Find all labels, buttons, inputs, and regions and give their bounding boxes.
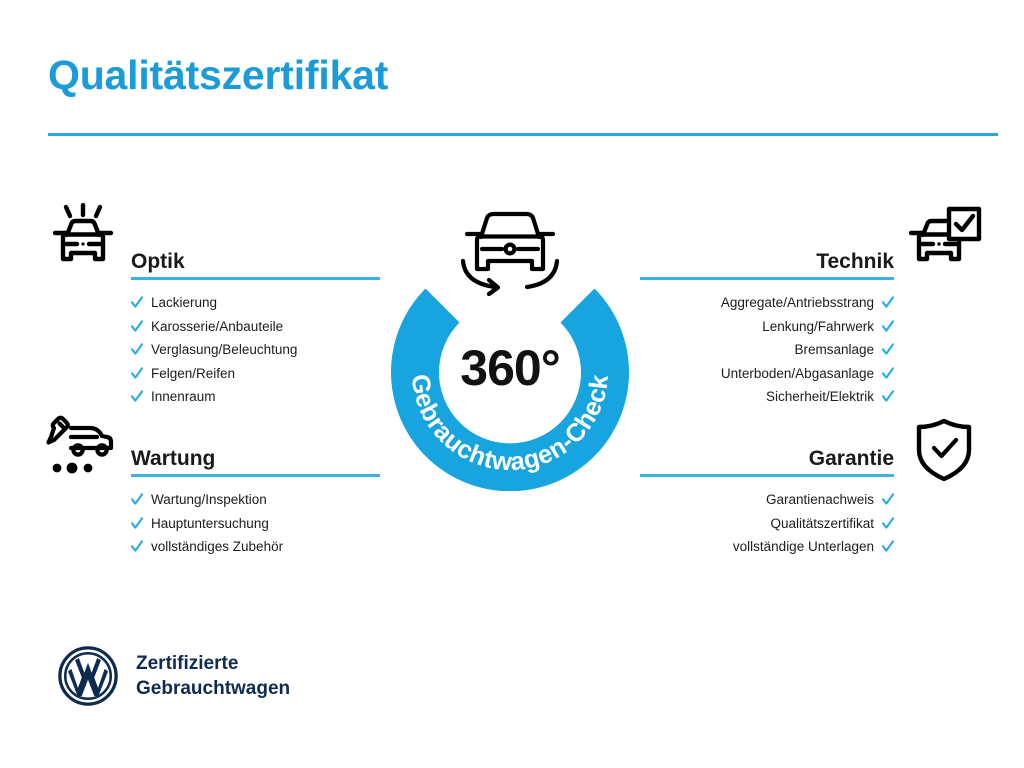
vw-text-line2: Gebrauchtwagen xyxy=(136,678,290,699)
list-item-label: Bremsanlage xyxy=(794,338,874,362)
list-item-label: Lackierung xyxy=(151,291,217,315)
list-item: Felgen/Reifen xyxy=(131,362,380,386)
list-item: Lackierung xyxy=(131,291,380,315)
list-item: Karosserie/Anbauteile xyxy=(131,315,380,339)
badge-number: 360° xyxy=(376,339,644,397)
list-item: Aggregate/Antriebsstrang xyxy=(640,291,894,315)
list-item-label: Qualitätszertifikat xyxy=(770,512,874,536)
section-technik-items: Aggregate/Antriebsstrang Lenkung/Fahrwer… xyxy=(640,291,894,409)
check-icon xyxy=(882,540,894,553)
list-item: Sicherheit/Elektrik xyxy=(640,385,894,409)
list-item-label: vollständiges Zubehör xyxy=(151,535,283,559)
list-item: vollständiges Zubehör xyxy=(131,535,380,559)
check-icon xyxy=(131,320,143,333)
vw-certified-text: Zertifizierte Gebrauchtwagen xyxy=(136,651,290,701)
section-optik-divider xyxy=(131,277,380,280)
car-service-pen-icon xyxy=(45,415,117,479)
check-icon xyxy=(131,343,143,356)
shield-check-icon xyxy=(913,417,975,483)
list-item-label: Sicherheit/Elektrik xyxy=(766,385,874,409)
list-item: vollständige Unterlagen xyxy=(640,535,894,559)
list-item-label: Wartung/Inspektion xyxy=(151,488,267,512)
check-icon xyxy=(882,296,894,309)
vw-logo xyxy=(57,645,119,707)
list-item-label: Aggregate/Antriebsstrang xyxy=(721,291,874,315)
car-rotate-icon xyxy=(455,199,565,299)
list-item: Innenraum xyxy=(131,385,380,409)
check-icon xyxy=(131,367,143,380)
check-icon xyxy=(131,540,143,553)
section-technik-divider xyxy=(640,277,894,280)
section-technik-head: Technik xyxy=(640,240,894,280)
check-icon xyxy=(882,493,894,506)
list-item: Lenkung/Fahrwerk xyxy=(640,315,894,339)
car-checkbox-icon xyxy=(907,203,985,275)
list-item-label: Garantienachweis xyxy=(766,488,874,512)
vw-text-line1: Zertifizierte xyxy=(136,653,238,674)
list-item-label: Innenraum xyxy=(151,385,216,409)
title-divider xyxy=(48,133,998,136)
list-item-label: Hauptuntersuchung xyxy=(151,512,269,536)
section-optik-head: Optik xyxy=(131,240,380,280)
list-item-label: Unterboden/Abgasanlage xyxy=(721,362,874,386)
section-garantie-title: Garantie xyxy=(809,447,894,471)
car-front-shine-icon xyxy=(47,203,119,275)
vw-certified-footer: Zertifizierte Gebrauchtwagen xyxy=(57,645,290,707)
section-wartung-head: Wartung xyxy=(131,437,380,477)
list-item-label: vollständige Unterlagen xyxy=(733,535,874,559)
list-item: Verglasung/Beleuchtung xyxy=(131,338,380,362)
section-wartung: Wartung Wartung/Inspektion Hauptuntersuc… xyxy=(131,437,380,559)
page-title: Qualitätszertifikat xyxy=(48,53,388,98)
section-wartung-items: Wartung/Inspektion Hauptuntersuchung vol… xyxy=(131,488,380,559)
list-item: Wartung/Inspektion xyxy=(131,488,380,512)
section-optik: Optik Lackierung Karosserie/Anbauteile V… xyxy=(131,240,380,409)
section-technik: Technik Aggregate/Antriebsstrang Lenkung… xyxy=(640,240,894,409)
section-garantie: Garantie Garantienachweis Qualitätszerti… xyxy=(640,437,894,559)
certificate-page: Qualitätszertifikat Optik xyxy=(0,0,1024,768)
section-wartung-divider xyxy=(131,474,380,477)
check-icon xyxy=(882,367,894,380)
section-garantie-items: Garantienachweis Qualitätszertifikat vol… xyxy=(640,488,894,559)
check-icon xyxy=(131,493,143,506)
section-technik-title: Technik xyxy=(816,250,894,274)
section-wartung-title: Wartung xyxy=(131,447,215,471)
list-item-label: Karosserie/Anbauteile xyxy=(151,315,283,339)
list-item-label: Lenkung/Fahrwerk xyxy=(762,315,874,339)
list-item-label: Verglasung/Beleuchtung xyxy=(151,338,297,362)
check-icon xyxy=(882,517,894,530)
list-item: Bremsanlage xyxy=(640,338,894,362)
check-icon xyxy=(131,390,143,403)
section-garantie-head: Garantie xyxy=(640,437,894,477)
list-item-label: Felgen/Reifen xyxy=(151,362,235,386)
check-icon xyxy=(882,390,894,403)
list-item: Hauptuntersuchung xyxy=(131,512,380,536)
check-icon xyxy=(882,343,894,356)
list-item: Garantienachweis xyxy=(640,488,894,512)
list-item: Qualitätszertifikat xyxy=(640,512,894,536)
check-icon xyxy=(131,517,143,530)
list-item: Unterboden/Abgasanlage xyxy=(640,362,894,386)
check-icon xyxy=(131,296,143,309)
section-optik-title: Optik xyxy=(131,250,185,274)
section-optik-items: Lackierung Karosserie/Anbauteile Verglas… xyxy=(131,291,380,409)
check-icon xyxy=(882,320,894,333)
section-garantie-divider xyxy=(640,474,894,477)
